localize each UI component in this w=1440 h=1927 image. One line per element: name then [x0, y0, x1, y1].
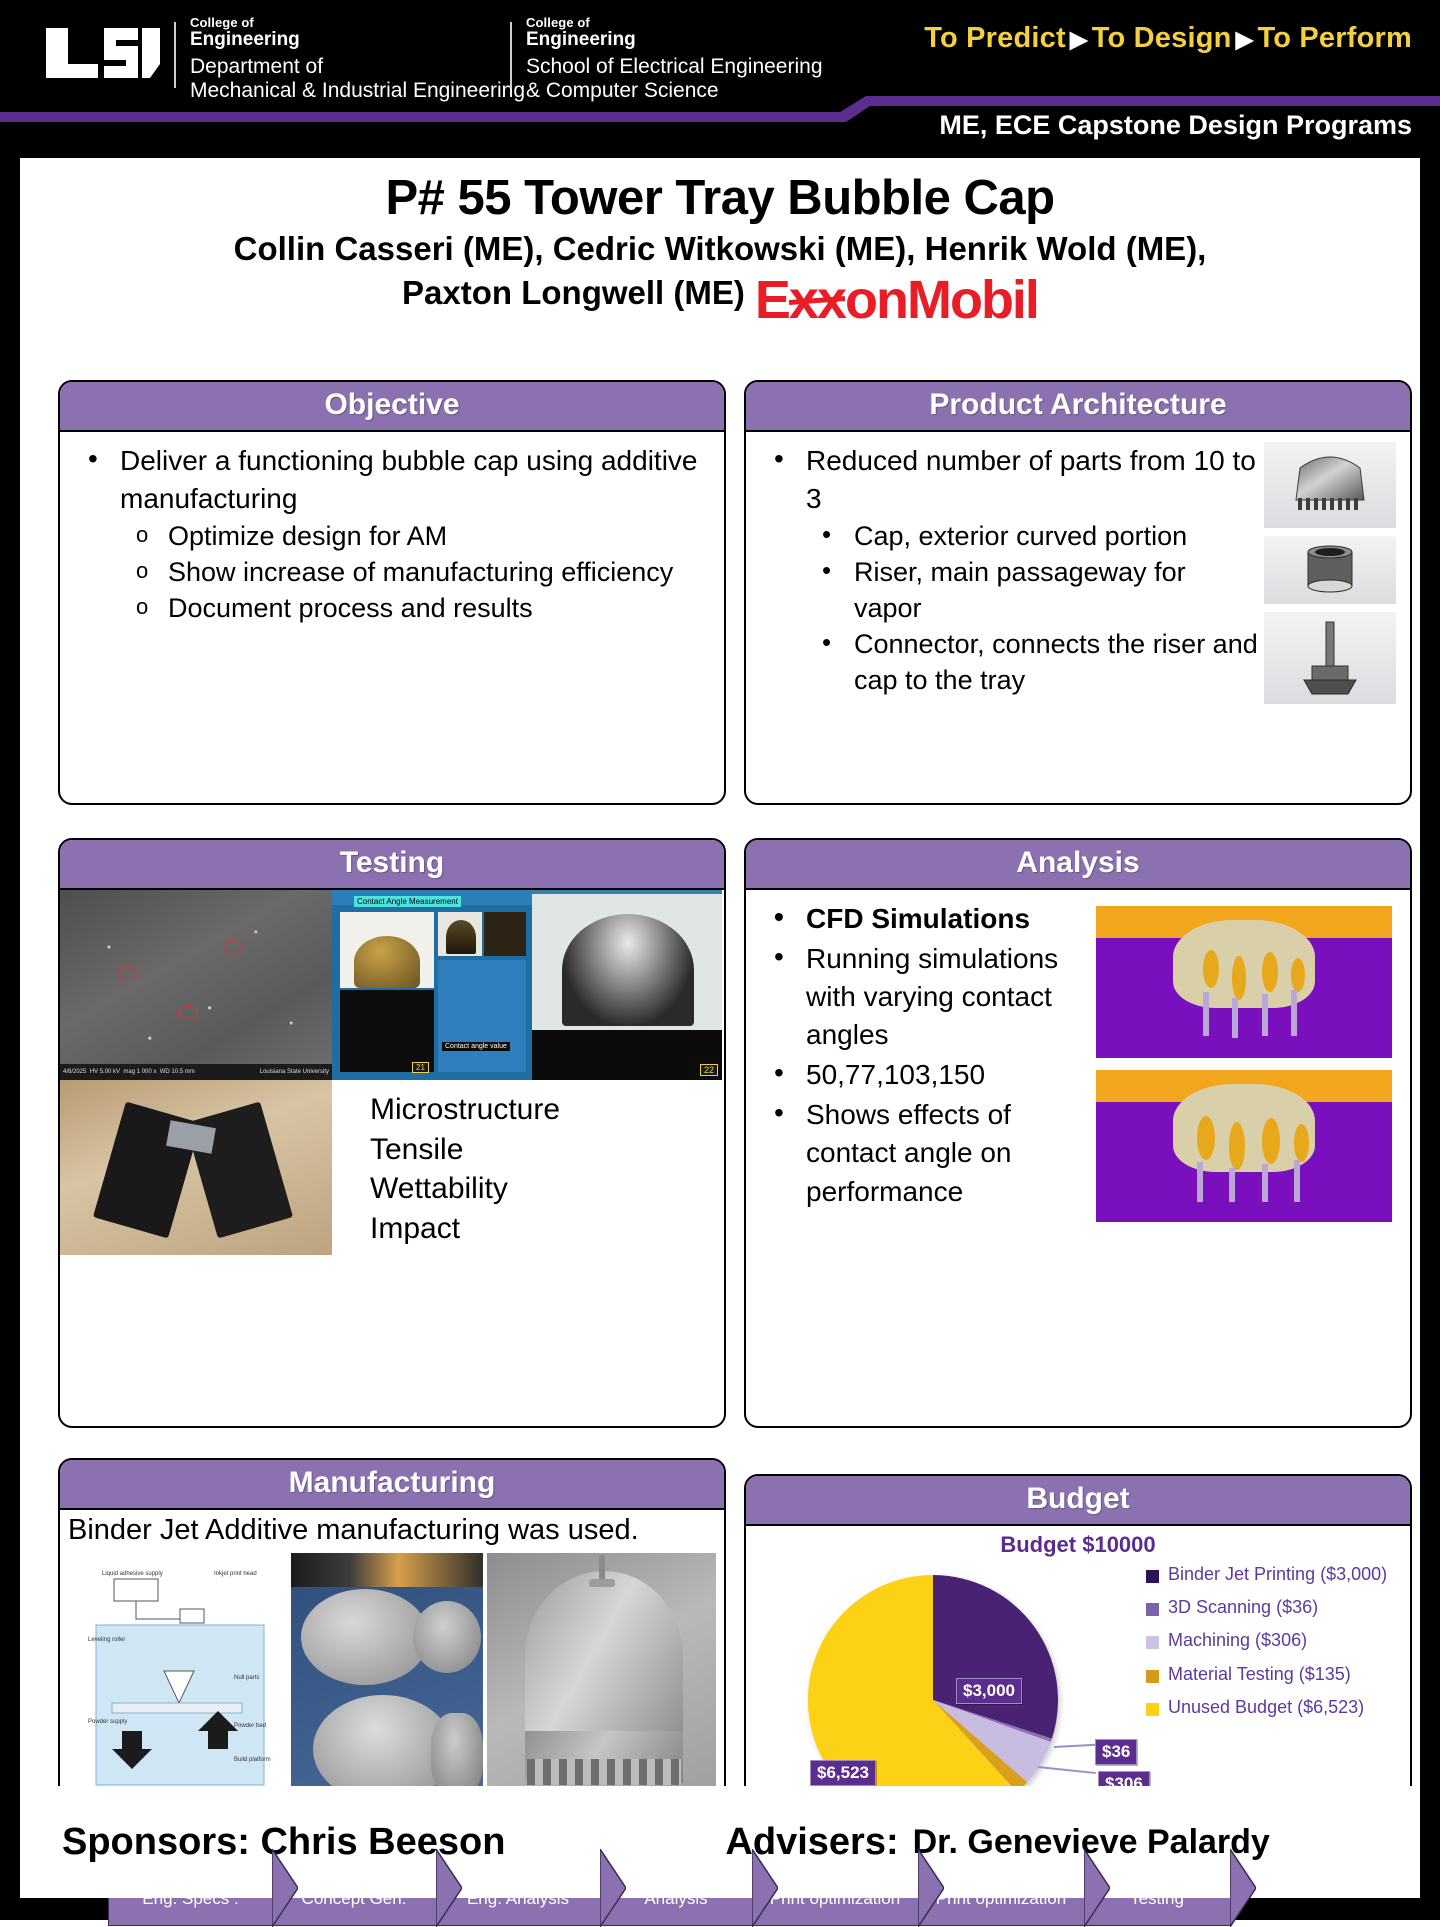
- svg-text:Inkjet print head: Inkjet print head: [214, 1571, 257, 1577]
- objective-panel: Objective Deliver a functioning bubble c…: [58, 380, 726, 805]
- ece-branding-block: College of Engineering School of Electri…: [510, 16, 823, 104]
- tagline-perform: To Perform: [1257, 22, 1412, 54]
- exxonmobil-logo: ExxonMobil: [755, 269, 1038, 333]
- poster-footer: Sponsors: Chris Beeson Advisers: Dr. Gen…: [20, 1786, 1420, 1898]
- analysis-bullet-list: CFD Simulations Running simulations with…: [760, 900, 1096, 1211]
- objective-heading: Objective: [60, 382, 724, 432]
- sem-microstructure-image: 4/8/2025 HV 5.00 kV mag 1 000 x WD 10.5 …: [60, 890, 332, 1080]
- product-architecture-heading: Product Architecture: [746, 382, 1410, 432]
- legend-label: 3D Scanning ($36): [1168, 1597, 1318, 1618]
- chevron-right-icon: [1084, 1849, 1110, 1927]
- contact-angle-measurement-screen: Contact Angle Measurement Contact angle …: [332, 890, 532, 1080]
- chevron-right-icon: [600, 1849, 626, 1927]
- svg-text:Liquid adhesive supply: Liquid adhesive supply: [102, 1571, 163, 1577]
- fractured-tensile-specimen-photo: [60, 1080, 332, 1255]
- testing-panel: Testing 4/8/2025 HV 5.00 kV mag 1 000 x …: [58, 838, 726, 1428]
- manufacturing-image-row: Liquid adhesive supply Inkjet print head…: [68, 1553, 716, 1818]
- pie-data-label: $36: [1095, 1739, 1137, 1765]
- chevron-right-icon: [272, 1849, 298, 1927]
- objective-bullet-text: Deliver a functioning bubble cap using a…: [120, 445, 698, 514]
- me-college-label: College of: [190, 16, 525, 30]
- analysis-body: CFD Simulations Running simulations with…: [746, 890, 1410, 1244]
- manufacturing-heading: Manufacturing: [60, 1460, 724, 1510]
- pa-sub-item: Connector, connects the riser and cap to…: [806, 627, 1258, 699]
- analysis-text: CFD Simulations Running simulations with…: [760, 900, 1096, 1234]
- objective-sub-item: Document process and results: [120, 591, 710, 627]
- chevron-right-icon: [918, 1849, 944, 1927]
- legend-label: Binder Jet Printing ($3,000): [1168, 1564, 1387, 1585]
- pa-sub-item: Cap, exterior curved portion: [806, 519, 1258, 555]
- analysis-images: [1096, 900, 1396, 1234]
- legend-item: Machining ($306): [1146, 1630, 1401, 1651]
- legend-label: Unused Budget ($6,523): [1168, 1697, 1364, 1718]
- lsu-branding-block: College of Engineering Department of Mec…: [42, 16, 525, 104]
- testing-image-row-bottom: Microstructure Tensile Wettability Impac…: [60, 1080, 724, 1255]
- analysis-heading: Analysis: [746, 840, 1410, 890]
- author-list: Collin Casseri (ME), Cedric Witkowski (M…: [20, 230, 1420, 333]
- tagline-predict: To Predict: [924, 22, 1066, 54]
- me-dept-line1: Department of: [190, 55, 525, 80]
- analysis-bullet: Shows effects of contact angle on perfor…: [760, 1096, 1096, 1210]
- me-engineering-label: Engineering: [190, 30, 525, 50]
- testing-label: Microstructure: [370, 1090, 560, 1130]
- pa-sub-list: Cap, exterior curved portion Riser, main…: [806, 519, 1258, 699]
- objective-sub-item: Optimize design for AM: [120, 519, 710, 555]
- cap-cad-render: [1264, 442, 1396, 528]
- author-line-2: Paxton Longwell (ME: [402, 274, 734, 311]
- lsu-logo-icon: [42, 24, 160, 82]
- cfd-simulation-render-1: [1096, 906, 1392, 1058]
- ece-college-label: College of: [526, 16, 823, 30]
- branding-divider: [174, 22, 176, 88]
- tagline-arrow-icon-2: ▶: [1232, 26, 1258, 52]
- droplet-contact-angle-image: 22: [532, 890, 722, 1080]
- testing-body: 4/8/2025 HV 5.00 kV mag 1 000 x WD 10.5 …: [60, 890, 724, 1255]
- testing-label: Impact: [370, 1209, 560, 1249]
- objective-body: Deliver a functioning bubble cap using a…: [60, 432, 724, 639]
- svg-text:Null parts: Null parts: [234, 1675, 259, 1681]
- legend-label: Machining ($306): [1168, 1630, 1307, 1651]
- analysis-panel: Analysis CFD Simulations Running simulat…: [744, 838, 1412, 1428]
- legend-swatch-machining: [1146, 1636, 1159, 1649]
- pie-data-label: $6,523: [810, 1760, 876, 1786]
- objective-sub-list: Optimize design for AM Show increase of …: [120, 519, 710, 627]
- finished-bubble-cap-photo: [487, 1553, 716, 1818]
- analysis-bullet: CFD Simulations: [760, 900, 1096, 938]
- objective-bullet-list: Deliver a functioning bubble cap using a…: [74, 442, 710, 627]
- author-line-2-close: ): [734, 274, 745, 311]
- legend-swatch-binder-jet-printing: [1146, 1570, 1159, 1583]
- legend-label: Material Testing ($135): [1168, 1664, 1351, 1685]
- product-architecture-panel: Product Architecture Reduced number of p…: [744, 380, 1412, 805]
- author-line-1: Collin Casseri (ME), Cedric Witkowski (M…: [60, 230, 1380, 269]
- product-architecture-text: Reduced number of parts from 10 to 3 Cap…: [760, 442, 1258, 712]
- legend-item: Binder Jet Printing ($3,000): [1146, 1564, 1401, 1585]
- chart-title: Budget $10000: [752, 1532, 1404, 1558]
- svg-text:Build platform: Build platform: [234, 1757, 271, 1763]
- exxon-logo-part3: onMobil: [845, 270, 1038, 330]
- objective-bullet: Deliver a functioning bubble cap using a…: [74, 442, 710, 627]
- poster-canvas: P# 55 Tower Tray Bubble Cap Collin Casse…: [20, 158, 1420, 1898]
- page-header: College of Engineering Department of Mec…: [0, 0, 1440, 107]
- page-title: P# 55 Tower Tray Bubble Cap: [20, 170, 1420, 226]
- product-architecture-body: Reduced number of parts from 10 to 3 Cap…: [746, 432, 1410, 722]
- testing-label: Wettability: [370, 1169, 560, 1209]
- manufacturing-intro-text: Binder Jet Additive manufacturing was us…: [68, 1514, 716, 1547]
- testing-image-row-top: 4/8/2025 HV 5.00 kV mag 1 000 x WD 10.5 …: [60, 890, 724, 1080]
- capstone-program-label: ME, ECE Capstone Design Programs: [939, 110, 1412, 141]
- exxon-logo-xx: xx: [789, 270, 845, 330]
- legend-swatch-material-testing: [1146, 1670, 1159, 1683]
- legend-swatch-unused-budget: [1146, 1703, 1159, 1716]
- author-line-2-row: Paxton Longwell (ME)ExxonMobil: [402, 269, 1038, 333]
- connector-cad-render: [1264, 612, 1396, 704]
- legend-swatch-3d-scanning: [1146, 1603, 1159, 1616]
- legend-item: 3D Scanning ($36): [1146, 1597, 1401, 1618]
- svg-text:Leveling roller: Leveling roller: [88, 1637, 125, 1643]
- legend-item: Unused Budget ($6,523): [1146, 1697, 1401, 1718]
- ece-department-text: College of Engineering School of Electri…: [526, 16, 823, 104]
- testing-label: Tensile: [370, 1130, 560, 1170]
- tagline-arrow-icon-1: ▶: [1066, 26, 1092, 52]
- binder-jet-process-diagram: Liquid adhesive supply Inkjet print head…: [68, 1553, 287, 1818]
- program-tagline: To Predict▶To Design▶To Perform: [924, 22, 1412, 55]
- objective-sub-item: Show increase of manufacturing efficienc…: [120, 555, 710, 591]
- product-architecture-images: [1264, 442, 1396, 712]
- exxon-logo-part1: E: [755, 270, 789, 330]
- pa-bullet: Reduced number of parts from 10 to 3 Cap…: [760, 442, 1258, 699]
- testing-heading: Testing: [60, 840, 724, 890]
- tagline-design: To Design: [1092, 22, 1232, 54]
- budget-heading: Budget: [746, 1476, 1410, 1526]
- svg-text:Powder supply: Powder supply: [88, 1719, 127, 1725]
- analysis-bullet: Running simulations with varying contact…: [760, 940, 1096, 1054]
- analysis-bullet: 50,77,103,150: [760, 1056, 1096, 1094]
- me-department-text: College of Engineering Department of Mec…: [190, 16, 525, 104]
- legend-item: Material Testing ($135): [1146, 1664, 1401, 1685]
- budget-legend: Binder Jet Printing ($3,000) 3D Scanning…: [1146, 1564, 1401, 1730]
- pie-data-label: $3,000: [956, 1678, 1022, 1704]
- svg-text:Powder bed: Powder bed: [234, 1723, 266, 1729]
- chevron-right-icon: [1230, 1849, 1256, 1927]
- pa-bullet-list: Reduced number of parts from 10 to 3 Cap…: [760, 442, 1258, 699]
- ece-engineering-label: Engineering: [526, 30, 823, 50]
- ece-dept-line1: School of Electrical Engineering: [526, 55, 823, 80]
- testing-label-list: Microstructure Tensile Wettability Impac…: [332, 1080, 560, 1255]
- chevron-right-icon: [436, 1849, 462, 1927]
- ece-divider: [510, 22, 512, 88]
- pa-sub-item: Riser, main passageway for vapor: [806, 555, 1258, 627]
- chevron-right-icon: [752, 1849, 778, 1927]
- pa-bullet-text: Reduced number of parts from 10 to 3: [806, 445, 1256, 514]
- riser-cad-render: [1264, 536, 1396, 604]
- printed-parts-photo: [291, 1553, 483, 1818]
- manufacturing-body: Binder Jet Additive manufacturing was us…: [60, 1510, 724, 1826]
- cfd-simulation-render-2: [1096, 1070, 1392, 1222]
